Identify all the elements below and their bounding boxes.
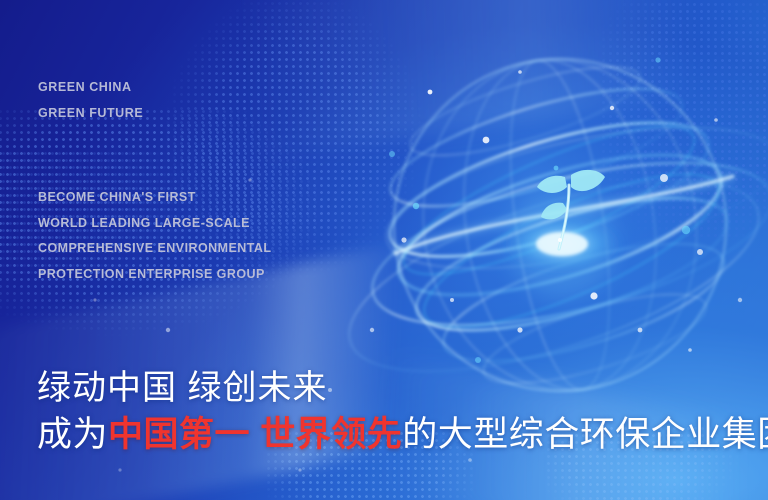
headline-highlight: 中国第一 世界领先 <box>108 415 402 454</box>
hero-banner: GREEN CHINA GREEN FUTURE BECOME CHINA'S … <box>0 0 768 500</box>
mission-line-1: BECOME CHINA'S FIRST <box>38 185 271 211</box>
eyebrow-slogan: GREEN CHINA GREEN FUTURE <box>38 74 143 126</box>
headline-line-2: 成为中国第一 世界领先的大型综合环保企业集团 <box>37 411 768 459</box>
sprout-svg <box>515 155 625 270</box>
headline-line-2-suffix: 的大型综合环保企业集团 <box>402 415 768 454</box>
headline: 绿动中国 绿创未来 成为中国第一 世界领先的大型综合环保企业集团 <box>37 365 768 459</box>
headline-line-2-prefix: 成为 <box>37 415 108 454</box>
eyebrow-line-1: GREEN CHINA <box>38 74 143 100</box>
headline-line-1: 绿动中国 绿创未来 <box>37 365 768 411</box>
mission-line-2: WORLD LEADING LARGE-SCALE <box>38 211 271 237</box>
mission-line-4: PROTECTION ENTERPRISE GROUP <box>38 262 271 288</box>
sprout-seedling-icon <box>515 155 625 270</box>
mission-statement: BECOME CHINA'S FIRST WORLD LEADING LARGE… <box>38 185 271 287</box>
eyebrow-line-2: GREEN FUTURE <box>38 100 143 126</box>
mission-line-3: COMPREHENSIVE ENVIRONMENTAL <box>38 236 271 262</box>
